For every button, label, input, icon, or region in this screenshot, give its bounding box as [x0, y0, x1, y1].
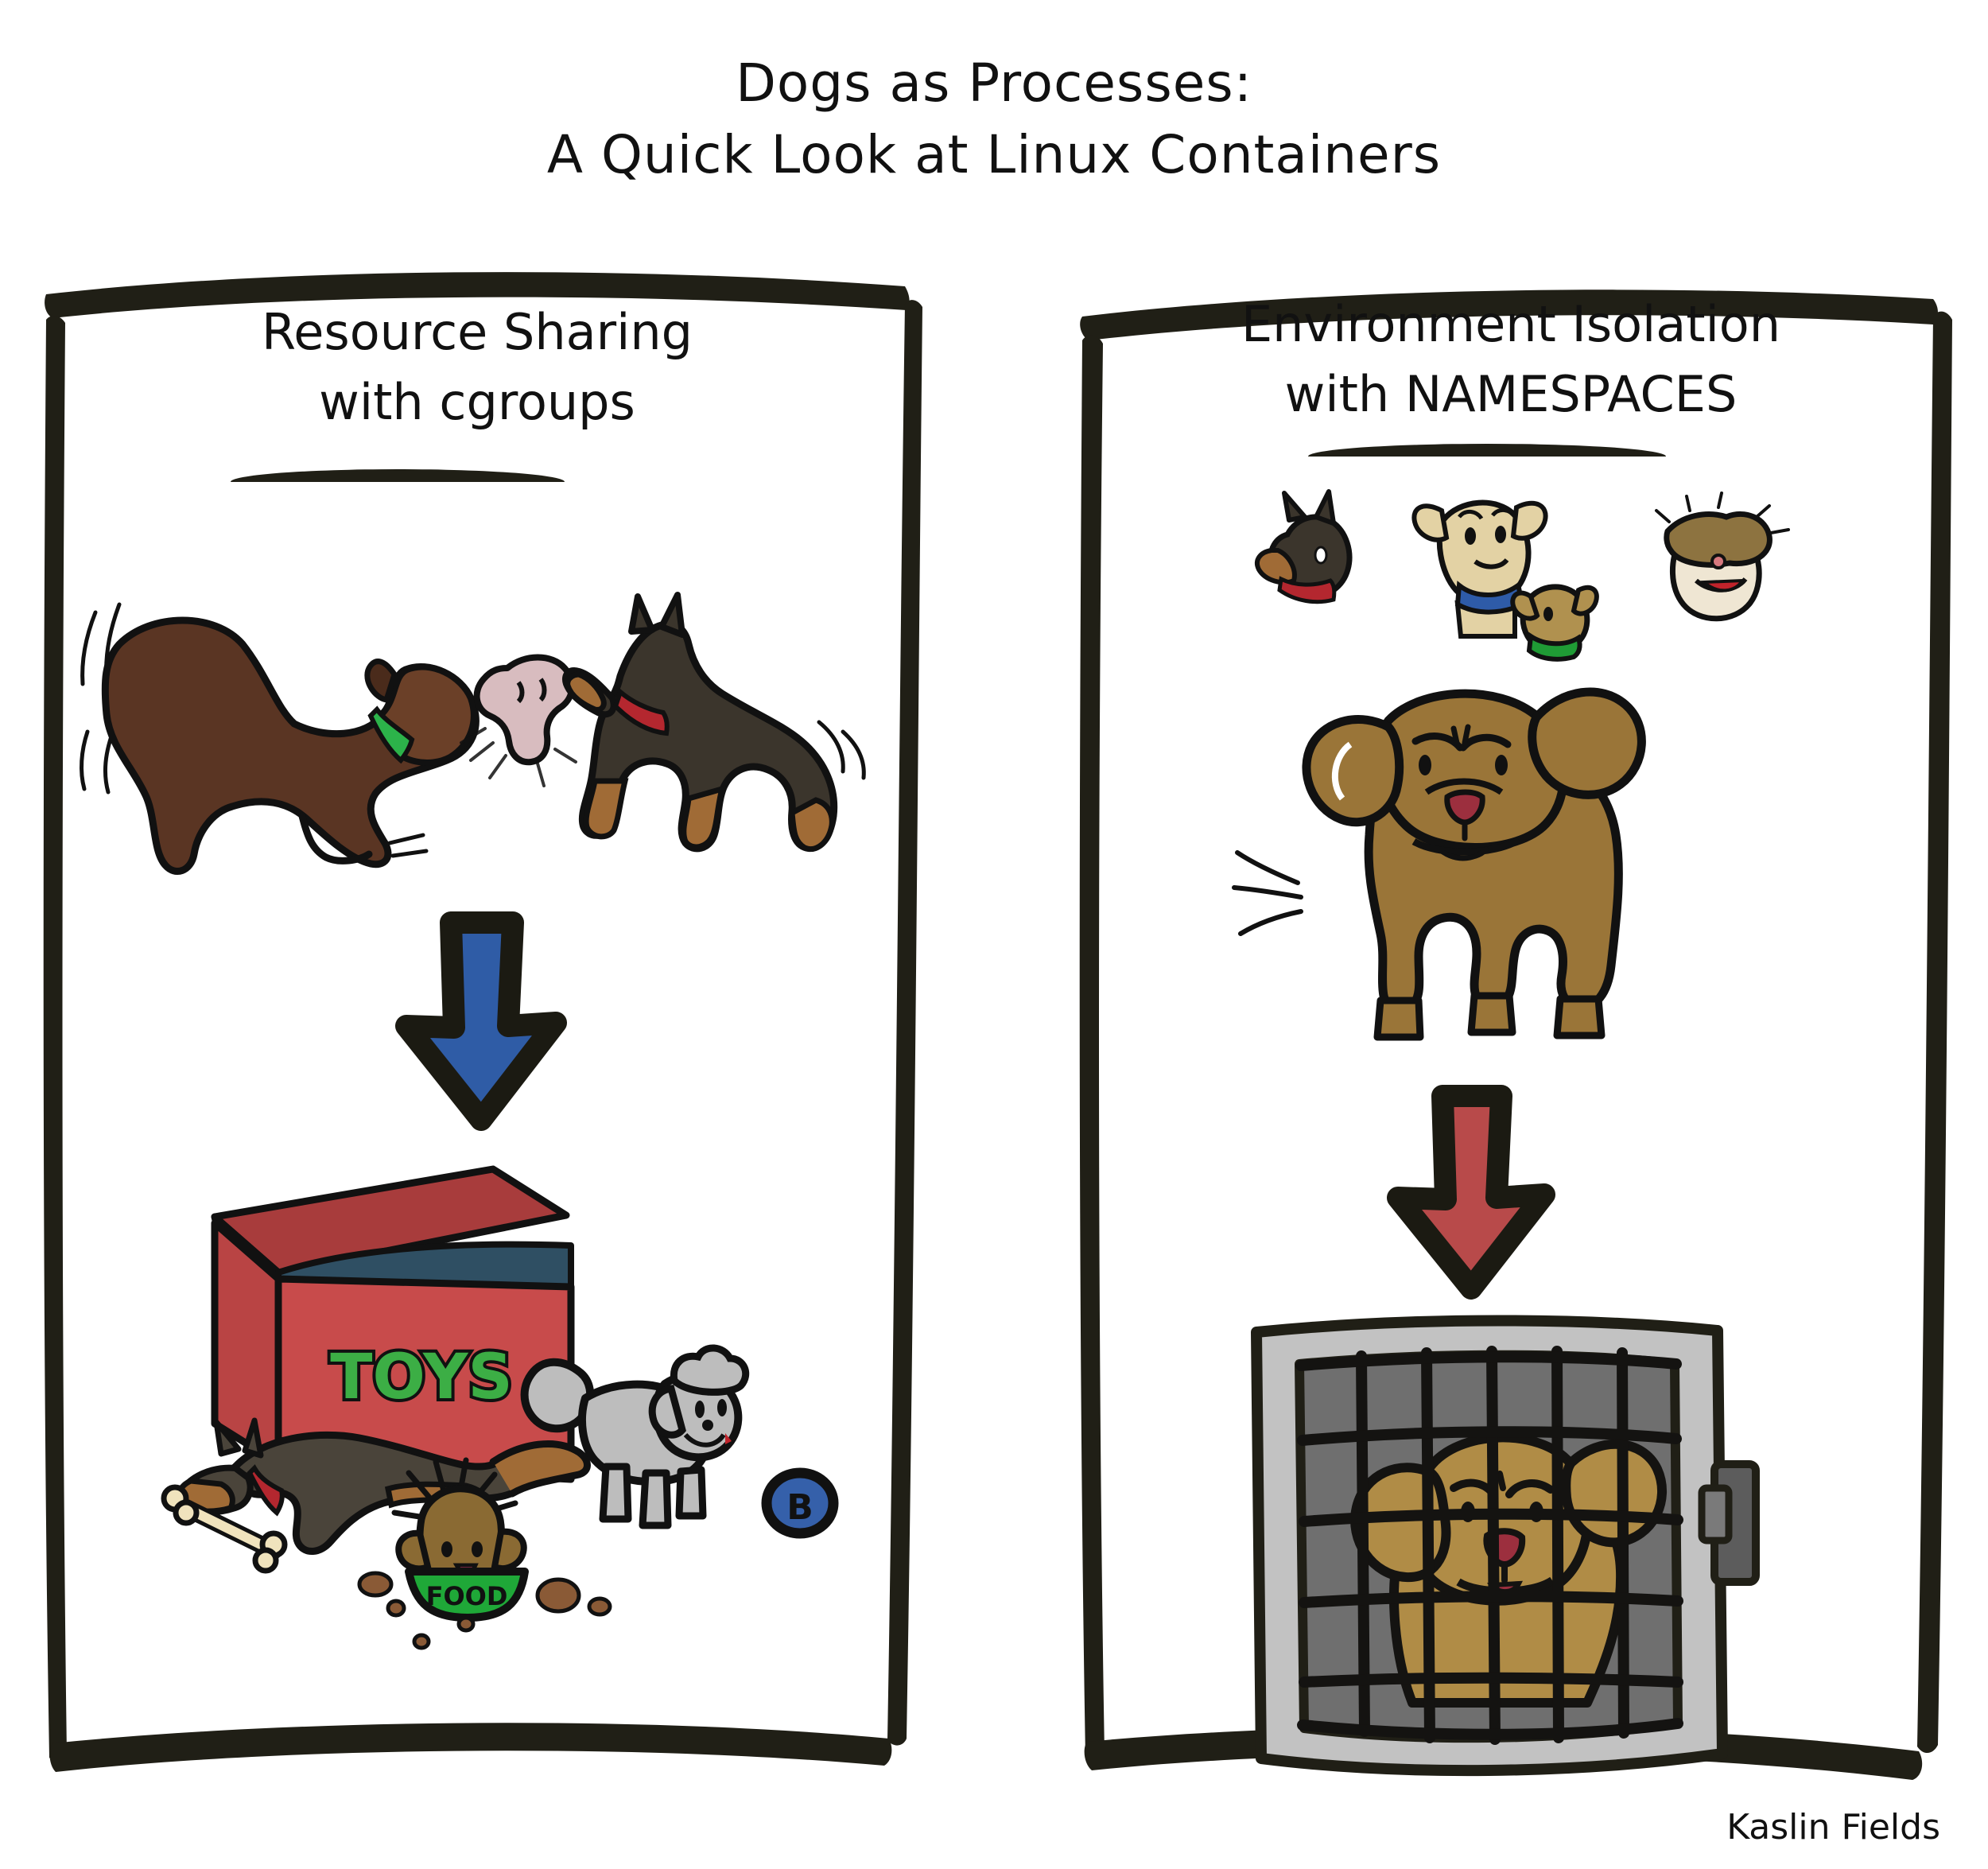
- food-bowl-label: FOOD: [426, 1581, 508, 1611]
- panel-left-heading: Resource Sharing with cgroups: [32, 297, 922, 437]
- panel-left-heading-line-2: with cgroups: [32, 367, 922, 437]
- title-line-1: Dogs as Processes:: [0, 48, 1988, 119]
- blue-ball: B: [767, 1473, 833, 1533]
- artist-signature: Kaslin Fields: [1726, 1807, 1940, 1848]
- tug-of-war-scene: [64, 581, 875, 891]
- title-line-2: A Quick Look at Linux Containers: [0, 119, 1988, 191]
- brown-labrador: [105, 620, 476, 872]
- toy-box: TOYS: [215, 1169, 571, 1479]
- dog-crate: [1241, 1308, 1765, 1785]
- panel-right-heading: Environment Isolation with NAMESPACES: [1070, 289, 1952, 429]
- panel-left-heading-line-1: Resource Sharing: [32, 297, 922, 367]
- heading-prefix: with: [1285, 365, 1405, 423]
- ball-label: B: [786, 1487, 813, 1528]
- angry-brown-dog: [1225, 644, 1781, 1058]
- doberman: [565, 595, 864, 849]
- panel-right-heading-line-1: Environment Isolation: [1070, 289, 1952, 359]
- heading-namespaces: NAMESPACES: [1405, 365, 1737, 423]
- shared-resources-scene: TOYS: [80, 1145, 875, 1702]
- doberman-head: [1257, 492, 1349, 602]
- page-title: Dogs as Processes: A Quick Look at Linux…: [0, 48, 1988, 191]
- panel-environment-isolation: Environment Isolation with NAMESPACES: [1070, 278, 1952, 1797]
- toy-box-label: TOYS: [330, 1342, 512, 1413]
- panel-right-heading-line-2: with NAMESPACES: [1070, 359, 1952, 429]
- dog-heads-group: [1244, 485, 1801, 660]
- shaggy-dog-head: [1656, 493, 1788, 619]
- down-arrow-blue: [386, 907, 577, 1137]
- down-arrow-red: [1376, 1082, 1567, 1304]
- panel-resource-sharing: Resource Sharing with cgroups: [32, 262, 922, 1797]
